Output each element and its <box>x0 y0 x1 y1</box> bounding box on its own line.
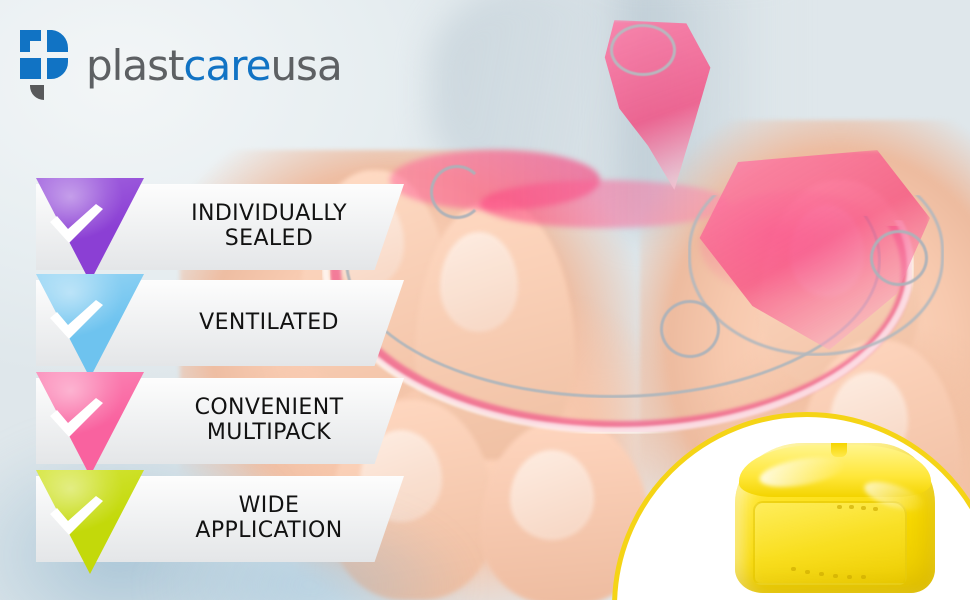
case-vent-hole <box>849 505 854 509</box>
feature-label: CONVENIENTMULTIPACK <box>140 378 398 464</box>
feature-label-line: WIDE <box>195 494 342 519</box>
case-vent-hole <box>861 575 866 579</box>
case-vent-hole <box>861 506 866 510</box>
case-vent-hole <box>805 570 810 574</box>
feature-label: VENTILATED <box>140 280 398 366</box>
feature-label-line: SEALED <box>191 227 347 252</box>
promo-banner: plastcareusa INDIVIDUALLYSEALEDVENTILATE… <box>0 0 970 600</box>
case-vent-hole <box>837 505 842 509</box>
case-front-panel <box>753 501 907 585</box>
feature-label-line: MULTIPACK <box>195 421 344 446</box>
feature-label-line: APPLICATION <box>195 519 342 544</box>
feature-label-line: CONVENIENT <box>195 396 344 421</box>
feature-label-line: VENTILATED <box>199 311 339 336</box>
feature-label: INDIVIDUALLYSEALED <box>140 184 398 270</box>
case-vent-hole <box>833 574 838 578</box>
case-vent-hole <box>873 507 878 511</box>
case-vent-hole <box>847 575 852 579</box>
case-vent-hole <box>791 567 796 571</box>
case-vent-hole <box>819 572 824 576</box>
retainer-case <box>735 443 935 593</box>
feature-label: WIDEAPPLICATION <box>140 476 398 562</box>
feature-label-line: INDIVIDUALLY <box>191 202 347 227</box>
case-hinge-notch <box>831 443 847 457</box>
